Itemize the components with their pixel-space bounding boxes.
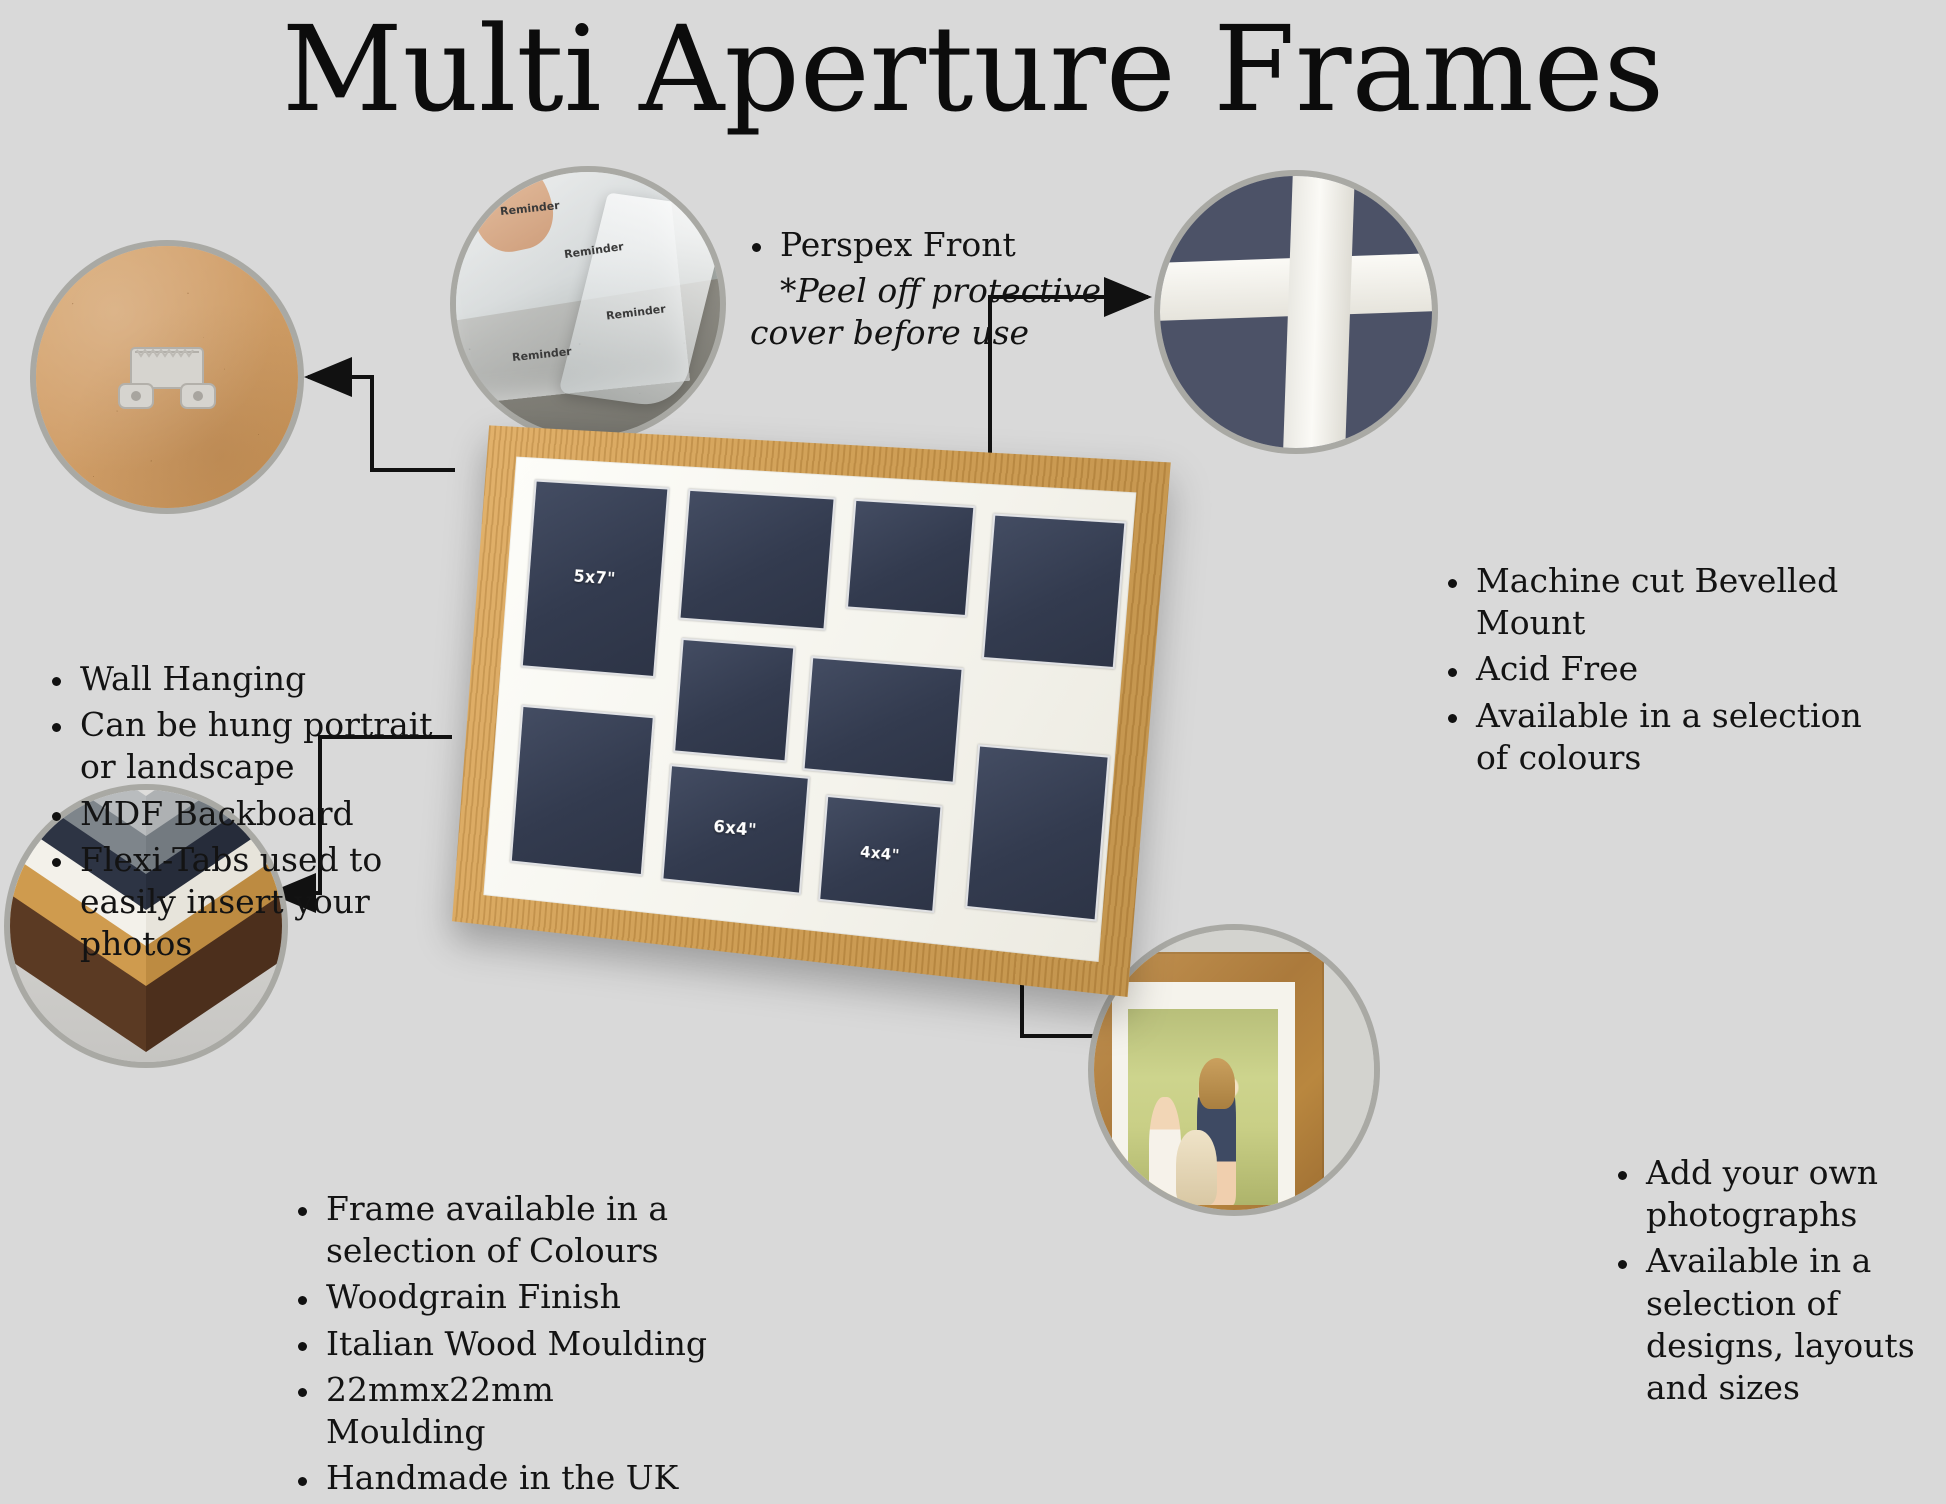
list-item: Available in a selection of colours (1438, 695, 1898, 779)
aperture-label-5x7: 5x7" (573, 567, 616, 590)
list-item: Machine cut Bevelled Mount (1438, 560, 1898, 644)
list-item: Can be hung portrait or landscape (42, 704, 442, 788)
callout-moulding-list: Frame available in a selection of Colour… (288, 1188, 718, 1504)
list-item: 22mmx22mm Moulding (288, 1369, 718, 1453)
list-item: Perspex Front (742, 224, 1172, 266)
aperture-portrait-5x7: 5x7" (521, 480, 670, 679)
list-item: Acid Free (1438, 648, 1898, 690)
list-item: Frame available in a selection of Colour… (288, 1188, 718, 1272)
list-item: MDF Backboard (42, 793, 442, 835)
lifestyle-frame-photo (1094, 930, 1374, 1210)
mdf-backboard-photo (36, 246, 298, 508)
callout-wall-hanging-list: Wall Hanging Can be hung portrait or lan… (42, 658, 442, 970)
list-item: Woodgrain Finish (288, 1276, 718, 1318)
list-item: Flexi-Tabs used to easily insert your ph… (42, 839, 442, 966)
list-item: Available in a selection of designs, lay… (1608, 1240, 1938, 1409)
callout-perspex-list: Perspex Front (742, 224, 1172, 266)
aperture-landscape-a (678, 489, 835, 631)
aperture-portrait-right (965, 744, 1110, 921)
callout-perspex-block: Perspex Front *Peel off protective cover… (742, 224, 1172, 355)
callout-photos-list: Add your own photographs Available in a … (1608, 1152, 1938, 1413)
aperture-label-6x4: 6x4" (713, 817, 758, 841)
bevelled-mount-photo (1160, 176, 1432, 448)
perspex-note: *Peel off protective cover before use (742, 270, 1172, 354)
callout-mount-list: Machine cut Bevelled Mount Acid Free Ava… (1438, 560, 1898, 783)
multi-aperture-photo-frame: 5x7" 6x4" 4x4" (452, 425, 1171, 997)
list-item: Handmade in the UK (288, 1457, 718, 1499)
aperture-square-4x4: 4x4" (818, 795, 942, 913)
aperture-landscape-b (846, 499, 976, 617)
aperture-landscape-6x4: 6x4" (661, 764, 810, 895)
aperture-portrait-c (982, 513, 1127, 669)
aperture-landscape-mid-b (803, 656, 964, 784)
arrow-to-backboard (308, 377, 455, 470)
aperture-label-4x4: 4x4" (859, 842, 900, 864)
list-item: Add your own photographs (1608, 1152, 1938, 1236)
aperture-square-mid-a (673, 638, 795, 763)
list-item: Wall Hanging (42, 658, 442, 700)
aperture-portrait-bottom-left (510, 705, 655, 876)
flexi-tab-icon (113, 340, 221, 414)
infographic-canvas: Multi Aperture Frames (0, 0, 1946, 1460)
perspex-peel-photo: Reminder Reminder Reminder Reminder (456, 172, 720, 436)
frame-mount-board: 5x7" 6x4" 4x4" (483, 457, 1136, 962)
list-item: Italian Wood Moulding (288, 1323, 718, 1365)
page-title: Multi Aperture Frames (0, 8, 1946, 132)
